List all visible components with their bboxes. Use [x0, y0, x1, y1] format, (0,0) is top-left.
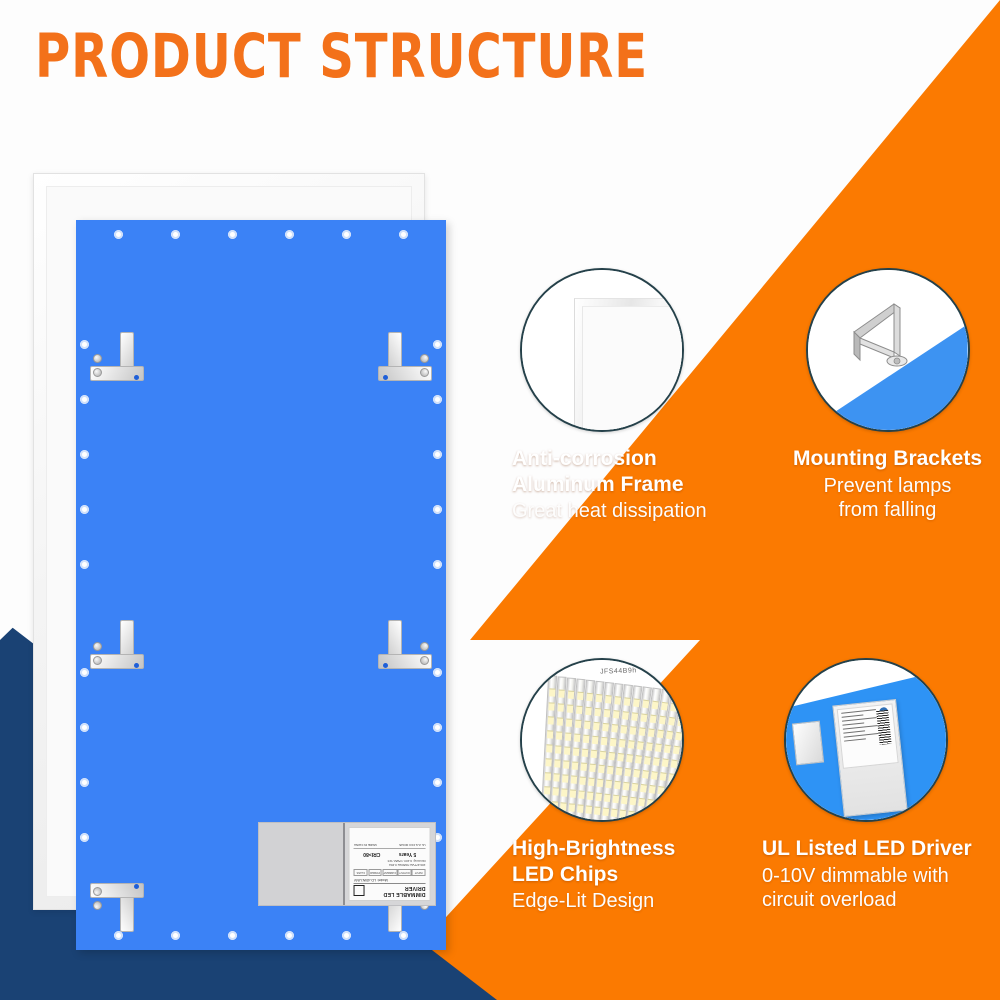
screw-dot [80, 505, 89, 514]
product-photo: DIMMABLE LED DRIVER Model: LD-40W-UNV IN… [18, 168, 466, 958]
qr-code-icon [354, 886, 365, 897]
spec-header-cell: CLASS [354, 870, 368, 877]
feature-subtext-line2: from falling [775, 498, 1000, 523]
feature-subtext-line1: 0-10V dimmable with [762, 864, 1000, 889]
screw-dot [285, 230, 294, 239]
screw-dot [171, 931, 180, 940]
feature-subtext-line1: Prevent lamps [775, 474, 1000, 499]
driver-cri: CRI>80 [364, 851, 381, 857]
screw-dot [80, 668, 89, 677]
screw-dot [285, 931, 294, 940]
led-chip-code: JFS44B9h [600, 667, 637, 675]
mounting-bracket [376, 620, 432, 672]
led-driver-unit: DIMMABLE LED DRIVER Model: LD-40W-UNV IN… [258, 822, 436, 906]
barcode-icon [876, 710, 891, 745]
feature-subtext: Edge-Lit Design [512, 889, 757, 914]
screw-dot [399, 931, 408, 940]
feature-heading-line1: Mounting Brackets [775, 446, 1000, 472]
feature-subtext: Great heat dissipation [512, 499, 757, 524]
spec-header-cell: POWER [369, 870, 383, 877]
screw-dot [433, 340, 442, 349]
mounting-bracket-icon [806, 268, 970, 432]
screw-dot [80, 723, 89, 732]
driver-spec-line: 100-277Vac 50/60Hz 0.45A [354, 863, 426, 867]
feature-high-brightness-led-chips: JFS44B9h High-Brightness LED Chips Edge-… [512, 658, 757, 914]
screw-dot [80, 833, 89, 842]
screw-dot [433, 505, 442, 514]
mounting-bracket [90, 332, 146, 384]
screw-dot [399, 230, 408, 239]
bracket-shape-icon [848, 298, 933, 378]
spec-header-cell: CURRENT [383, 870, 398, 877]
screw-dot [228, 931, 237, 940]
driver-warranty: 5 Years [399, 851, 416, 857]
driver-label-title: DIMMABLE LED DRIVER [365, 885, 426, 897]
screw-dot [433, 450, 442, 459]
screw-dot [114, 230, 123, 239]
feature-anti-corrosion-aluminum-frame: Anti-corrosion Aluminum Frame Great heat… [512, 268, 757, 524]
spec-header-cell: OUTPUT [398, 870, 412, 877]
feature-ul-listed-led-driver: UL Listed LED Driver 0-10V dimmable with… [762, 658, 1000, 913]
screw-dot [433, 668, 442, 677]
spec-header-cell: INPUT [412, 870, 426, 877]
screw-dot [433, 560, 442, 569]
screw-dot [433, 723, 442, 732]
led-driver-icon [784, 658, 948, 822]
aluminum-frame-icon [520, 268, 684, 432]
feature-heading-line1: UL Listed LED Driver [762, 836, 1000, 862]
driver-box-shape [832, 699, 907, 817]
screw-dot [80, 450, 89, 459]
feature-subtext-line2: circuit overload [762, 888, 1000, 913]
screw-dot [114, 931, 123, 940]
mounting-bracket [90, 880, 146, 932]
feature-heading-line2: LED Chips [512, 862, 757, 888]
screw-dot [80, 778, 89, 787]
driver-spec-line: Dimming: 0-10V / PWM / RX [354, 859, 426, 863]
driver-label-model: Model: LD-40W-UNV [354, 878, 426, 882]
screw-dot [342, 931, 351, 940]
infographic-canvas: PRODUCT STRUCTURE [0, 0, 1000, 1000]
mounting-bracket [376, 332, 432, 384]
feature-mounting-brackets: Mounting Brackets Prevent lamps from fal… [775, 268, 1000, 523]
screw-dot [342, 230, 351, 239]
driver-origin: MADE IN CHINA [354, 843, 377, 847]
screw-dot [171, 230, 180, 239]
led-panel-back: DIMMABLE LED DRIVER Model: LD-40W-UNV IN… [76, 220, 446, 950]
page-title: PRODUCT STRUCTURE [35, 22, 648, 92]
screw-dot [80, 560, 89, 569]
led-chips-icon: JFS44B9h [520, 658, 684, 822]
driver-spec-table: INPUT OUTPUT CURRENT POWER CLASS [354, 870, 426, 877]
screw-dot [433, 395, 442, 404]
screw-dot [433, 778, 442, 787]
screw-dot [80, 340, 89, 349]
driver-side-bracket [792, 721, 824, 766]
driver-label: DIMMABLE LED DRIVER Model: LD-40W-UNV IN… [349, 827, 431, 901]
feature-heading-line1: Anti-corrosion [512, 446, 757, 472]
mounting-bracket [90, 620, 146, 672]
screw-dot [80, 395, 89, 404]
feature-heading-line2: Aluminum Frame [512, 472, 757, 498]
feature-heading-line1: High-Brightness [512, 836, 757, 862]
screw-dot [228, 230, 237, 239]
driver-certification-marks: UL cUL FCC ROHS [400, 843, 426, 847]
driver-body [259, 823, 345, 905]
